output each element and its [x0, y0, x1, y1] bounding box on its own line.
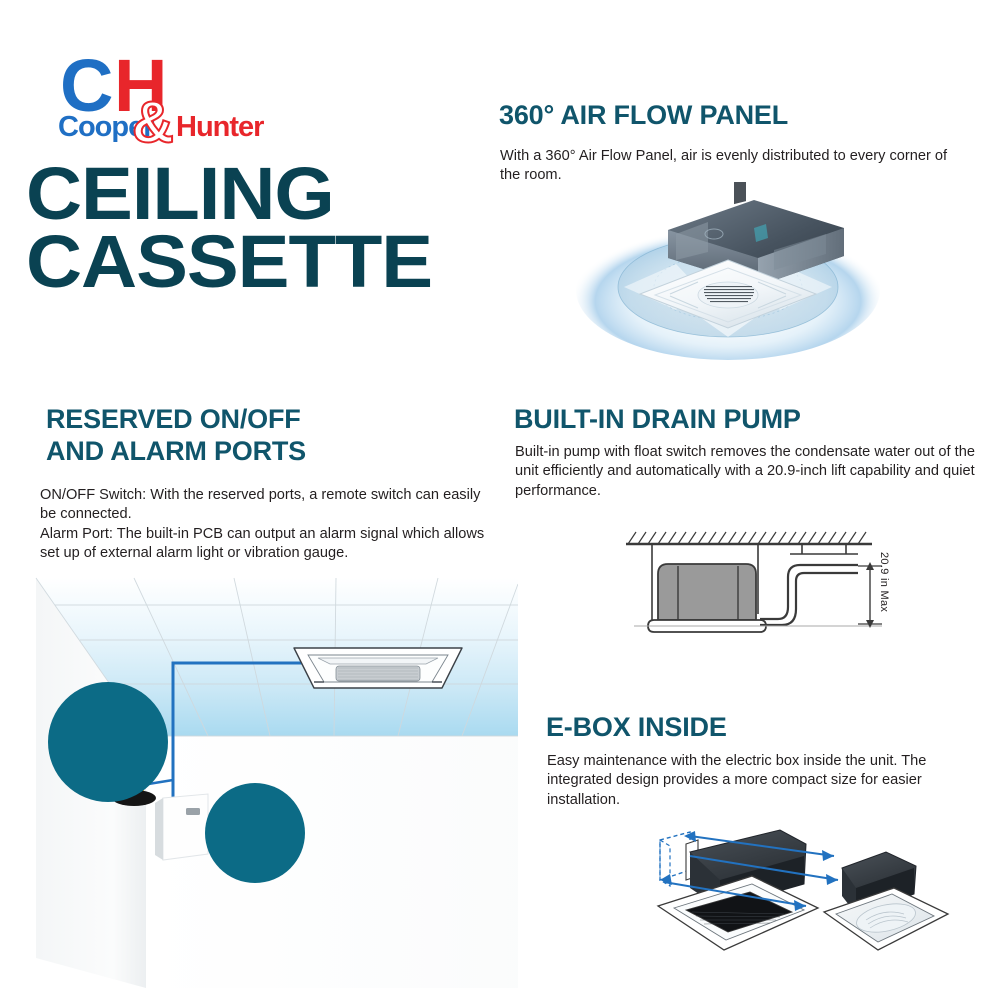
page-title-line1: CEILING	[26, 160, 509, 228]
callout-circle-onoff	[48, 682, 168, 802]
ebox-unit-right	[824, 852, 948, 950]
section-heading-airflow: 360° AIR FLOW PANEL	[499, 100, 969, 132]
page-title: CEILING CASSETTE	[26, 160, 509, 296]
section-body-airflow: With a 360° Air Flow Panel, air is evenl…	[500, 147, 950, 186]
logo-letter-c: C	[60, 55, 109, 117]
logo-wordmark: Cooper & Hunter	[58, 110, 268, 144]
logo-word-hunter: Hunter	[176, 110, 263, 144]
callout-circle-alarm	[205, 783, 305, 883]
page-title-line2: CASSETTE	[26, 228, 509, 296]
wall-switch-box	[155, 794, 208, 860]
section-heading-ports: RESERVED ON/OFF AND ALARM PORTS	[46, 404, 466, 468]
section-body-ebox: Easy maintenance with the electric box i…	[547, 752, 967, 810]
section-heading-pump: BUILT-IN DRAIN PUMP	[514, 404, 974, 436]
section-body-ports-line1: ON/OFF Switch: With the reserved ports, …	[40, 486, 495, 525]
section-heading-ports-line2: AND ALARM PORTS	[46, 436, 466, 468]
infographic-page: C H Cooper & Hunter CEILING CASSETTE 360…	[0, 0, 1000, 1000]
airflow-unit-illustration	[558, 182, 898, 367]
cooper-hunter-logo: C H Cooper & Hunter	[58, 55, 268, 147]
logo-ampersand-icon: &	[132, 94, 174, 152]
drain-pump-diagram	[620, 518, 915, 653]
ebox-unit-left	[658, 830, 818, 950]
pump-dimension-label: 20.9 in Max	[878, 552, 890, 612]
section-heading-ebox: E-BOX INSIDE	[546, 712, 966, 744]
section-heading-ports-line1: RESERVED ON/OFF	[46, 404, 466, 436]
ceiling-cassette-unit	[294, 648, 462, 688]
section-body-ports: ON/OFF Switch: With the reserved ports, …	[40, 486, 495, 563]
section-body-pump: Built-in pump with float switch removes …	[515, 443, 980, 501]
ebox-comparison-illustration	[628, 822, 958, 972]
